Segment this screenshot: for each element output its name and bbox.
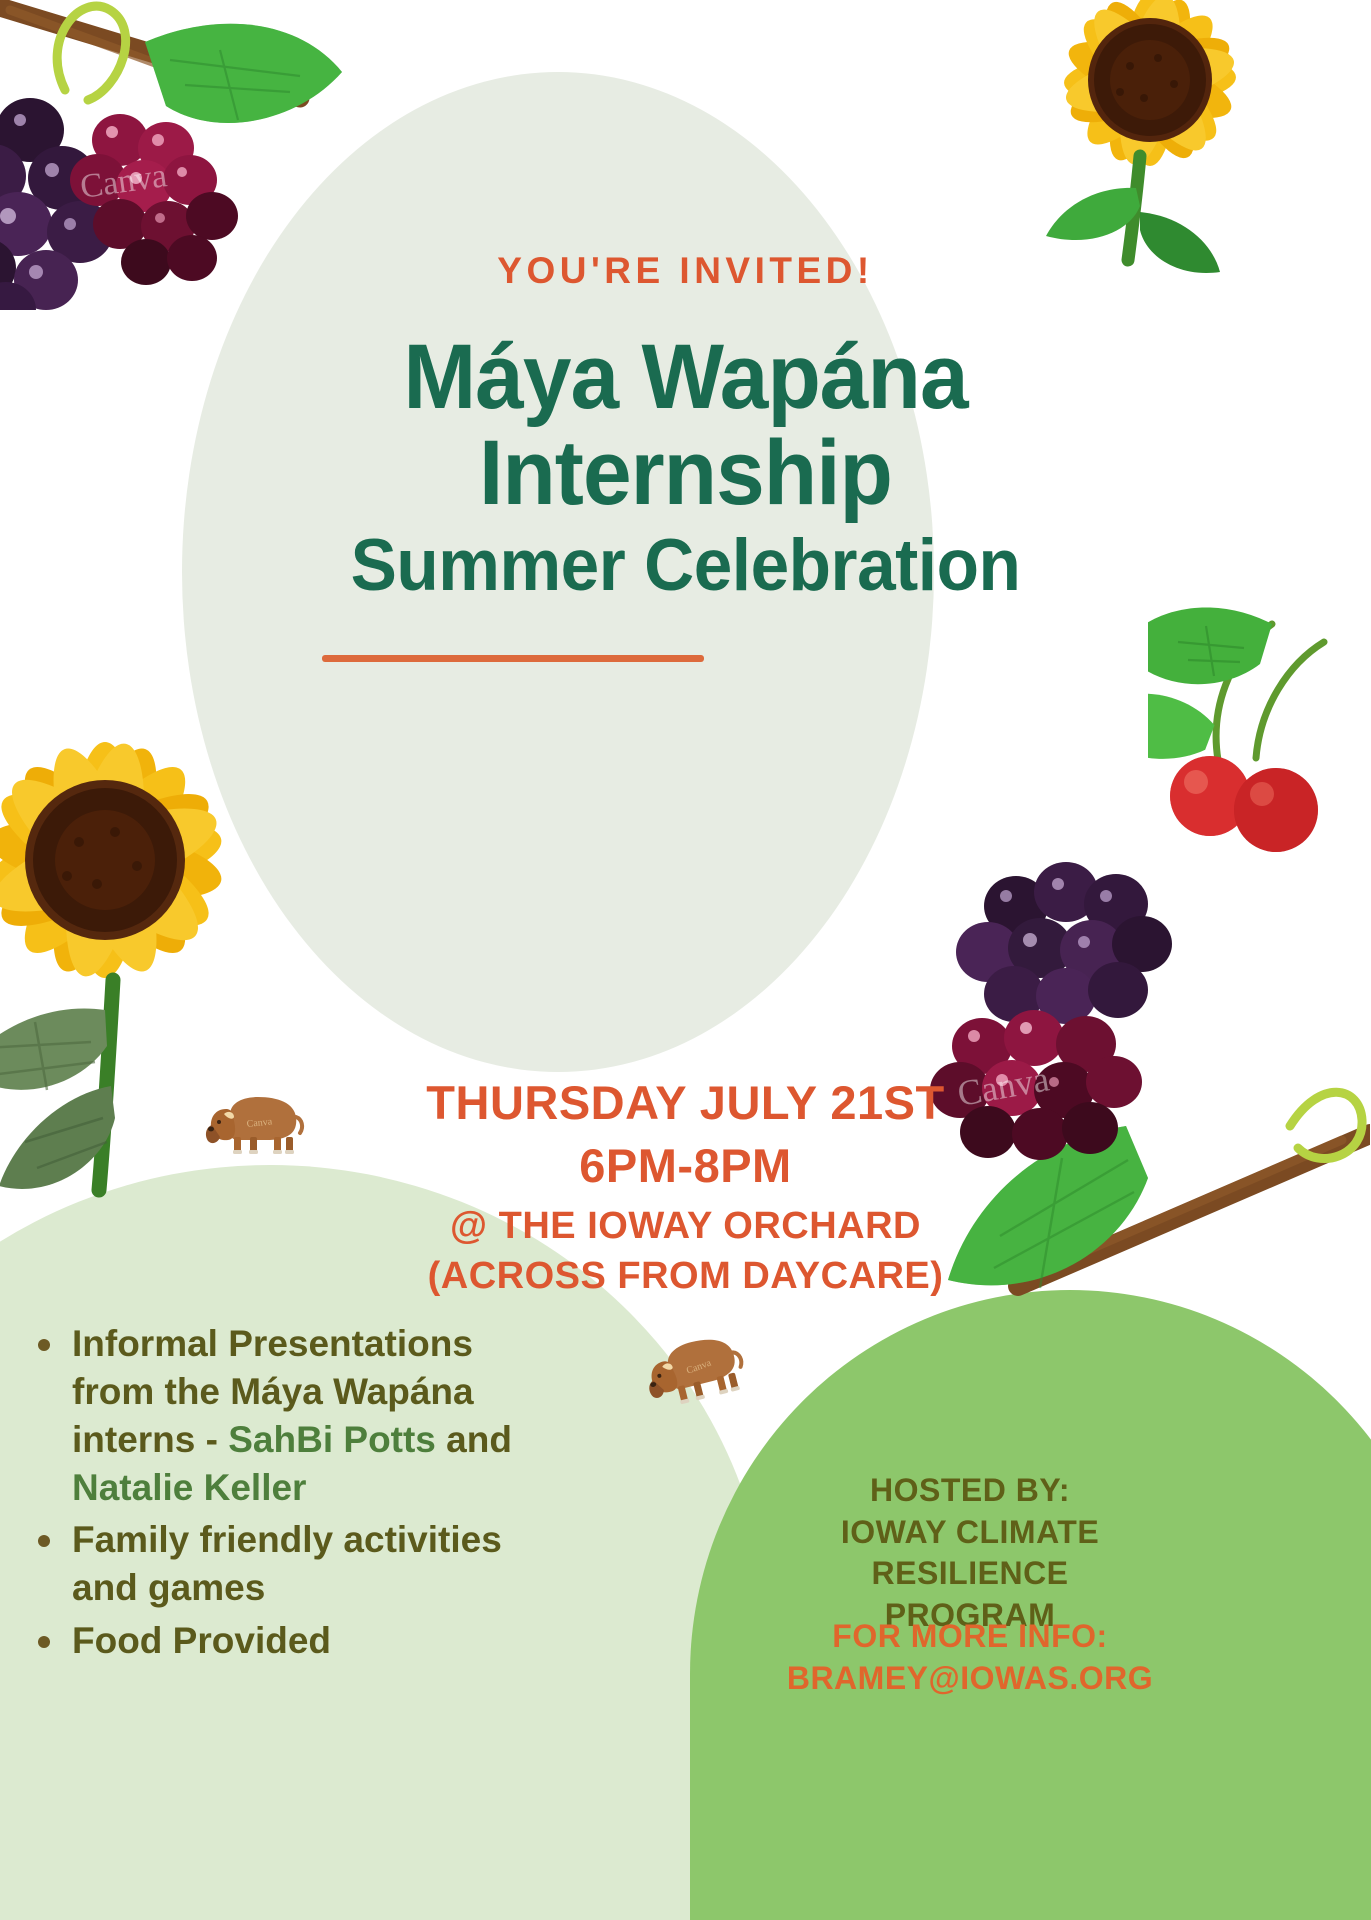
contact-label: FOR MORE INFO: [760,1616,1180,1658]
hosted-by-label: HOSTED BY: [790,1470,1150,1512]
event-location-line-1: @ THE IOWAY ORCHARD [0,1201,1371,1251]
title-line-2: Internship [34,426,1336,522]
host-org-line-1: IOWAY CLIMATE [790,1512,1150,1554]
orange-divider [322,655,704,662]
intern-name-1: SahBi Potts [228,1419,436,1460]
list-item: Informal Presentations from the Máya Wap… [22,1320,542,1512]
hosted-by-block: HOSTED BY: IOWAY CLIMATE RESILIENCE PROG… [790,1470,1150,1636]
invitation-eyebrow: YOU'RE INVITED! [0,250,1371,292]
event-highlights-list: Informal Presentations from the Máya Wap… [22,1320,542,1669]
event-flyer: Canva [0,0,1371,1920]
title-subtitle: Summer Celebration [34,521,1336,610]
list-item: Food Provided [22,1617,542,1665]
event-details: THURSDAY JULY 21ST 6PM-8PM @ THE IOWAY O… [0,1075,1371,1301]
bullet-text-activities: Family friendly activities and games [72,1519,502,1608]
contact-email[interactable]: BRAMEY@IOWAS.ORG [760,1658,1180,1700]
bullet-text-food: Food Provided [72,1620,331,1661]
contact-block: FOR MORE INFO: BRAMEY@IOWAS.ORG [760,1616,1180,1699]
event-date: THURSDAY JULY 21ST [0,1075,1371,1131]
title-line-1: Máya Wapána [34,330,1336,426]
event-time: 6PM-8PM [0,1131,1371,1201]
bullet-text-conjunction: and [436,1419,512,1460]
list-item: Family friendly activities and games [22,1516,542,1612]
intern-name-2: Natalie Keller [72,1467,306,1508]
page-title: Máya Wapána Internship Summer Celebratio… [0,330,1371,610]
event-location-line-2: (ACROSS FROM DAYCARE) [0,1251,1371,1301]
